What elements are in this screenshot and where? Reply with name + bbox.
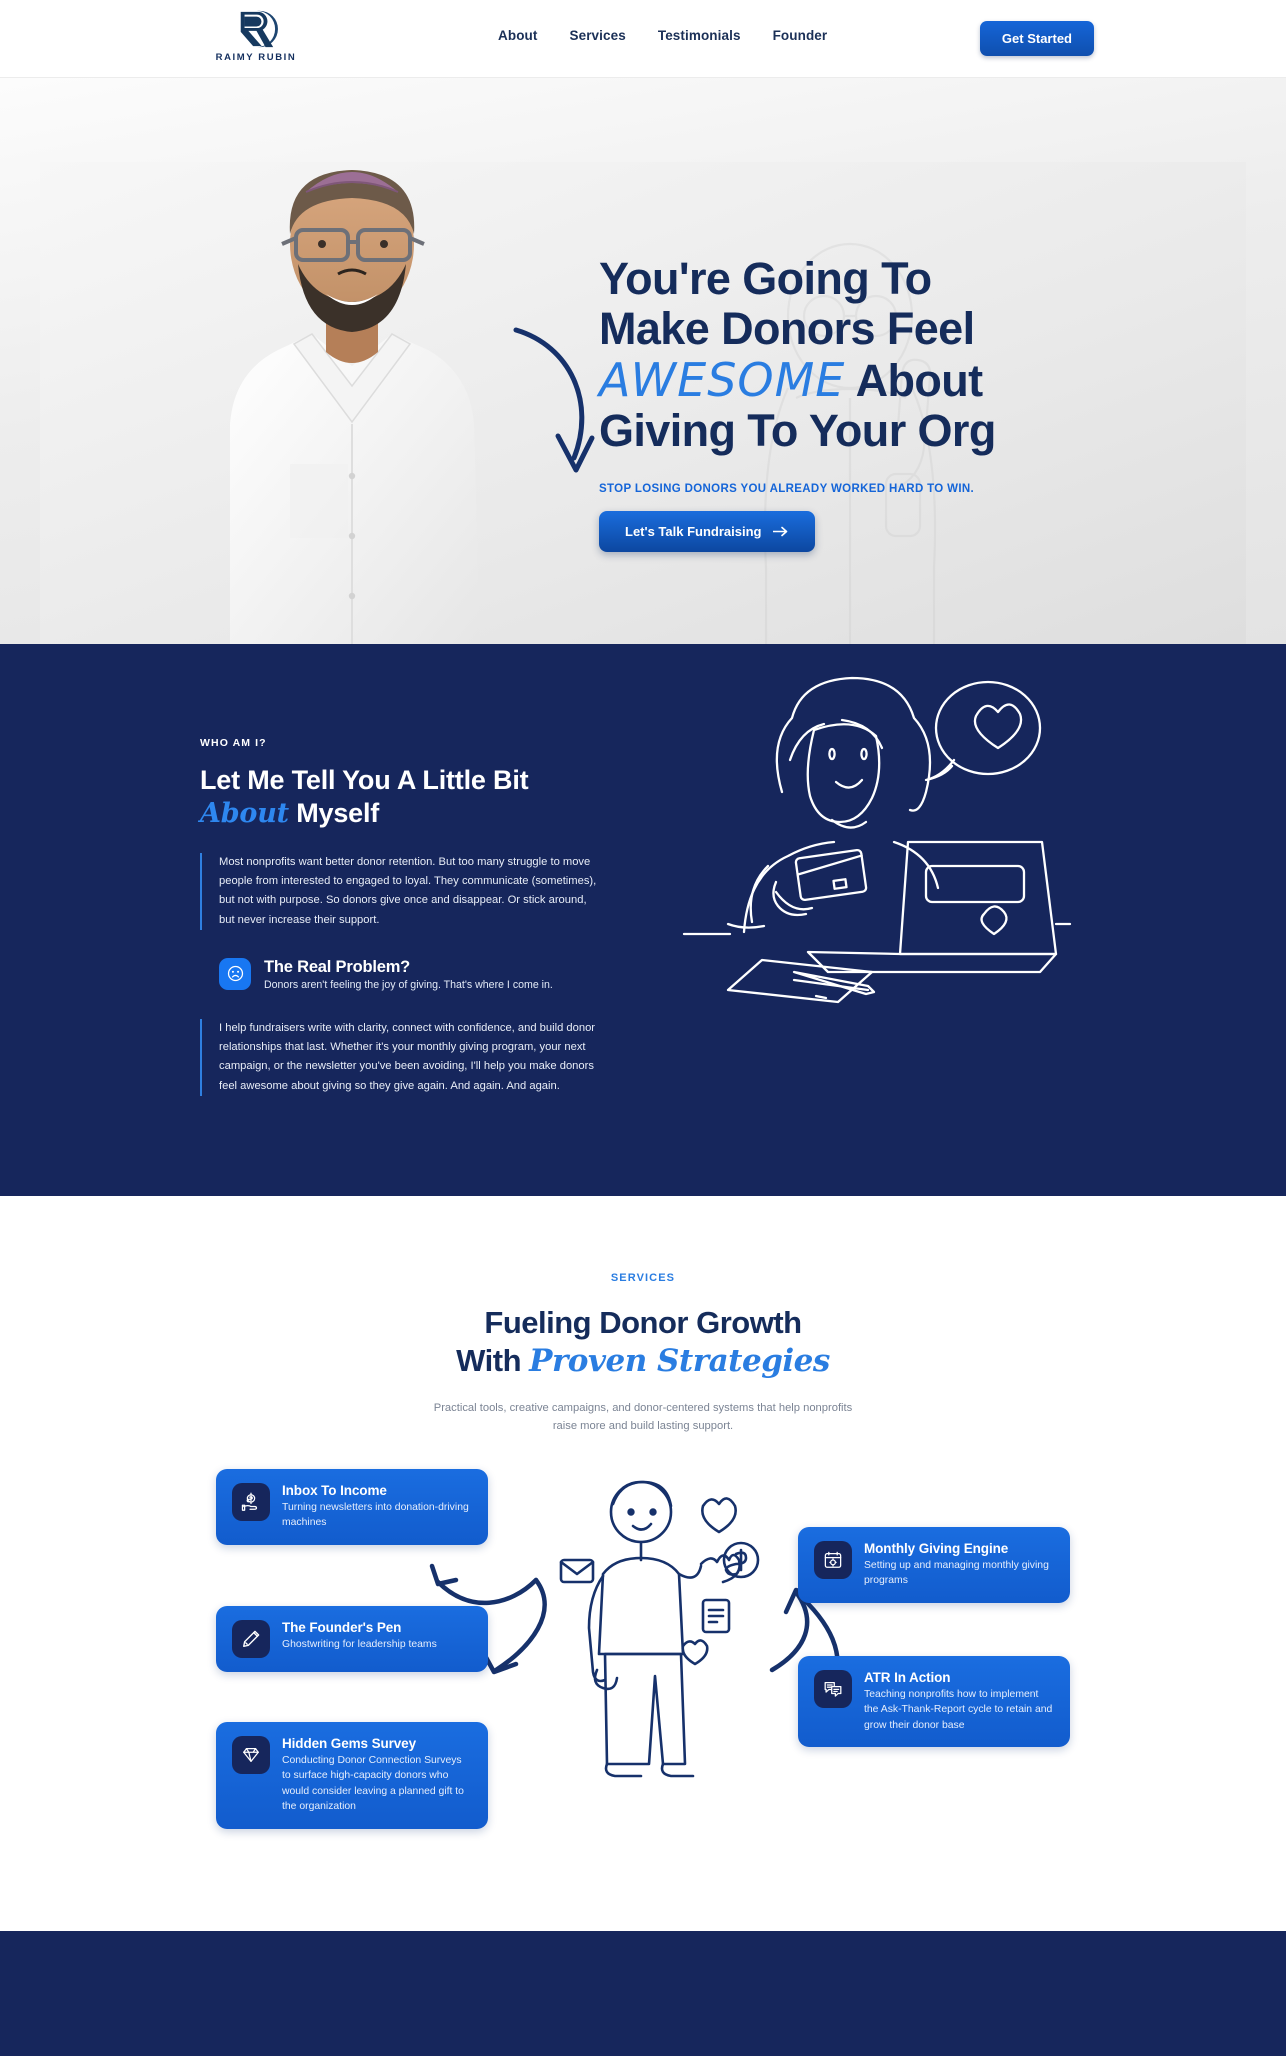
hero-subheading: STOP LOSING DONORS YOU ALREADY WORKED HA… — [599, 483, 1159, 495]
services-section: SERVICES Fueling Donor Growth With Prove… — [0, 1196, 1286, 1931]
services-center-illustration — [545, 1464, 765, 1794]
nav-item-founder[interactable]: Founder — [773, 28, 828, 43]
service-card-title: Hidden Gems Survey — [282, 1736, 472, 1751]
hero-copy-block: You're Going To Make Donors Feel AWESOME… — [599, 254, 1159, 552]
brand-logo[interactable]: RAIMY RUBIN — [196, 8, 316, 63]
chat-bubbles-icon — [814, 1670, 852, 1708]
service-card-title: Inbox To Income — [282, 1483, 472, 1498]
services-heading-line1: Fueling Donor Growth — [484, 1305, 801, 1340]
service-card-subtitle: Setting up and managing monthly giving p… — [864, 1558, 1054, 1589]
arrow-right-icon — [773, 526, 789, 537]
pen-icon — [232, 1620, 270, 1658]
service-card-text: Monthly Giving Engine Setting up and man… — [864, 1541, 1054, 1589]
hero-heading-line4: Giving To Your Org — [599, 405, 996, 456]
nav-item-about[interactable]: About — [498, 28, 537, 43]
hero-heading-line1: You're Going To — [599, 253, 932, 304]
services-cards-area: Inbox To Income Turning newsletters into… — [0, 1464, 1286, 1884]
service-card-title: The Founder's Pen — [282, 1620, 437, 1635]
nav-item-services[interactable]: Services — [569, 28, 625, 43]
hero-heading-line2: Make Donors Feel — [599, 303, 975, 354]
diamond-icon — [232, 1736, 270, 1774]
service-card-monthly-giving-engine[interactable]: Monthly Giving Engine Setting up and man… — [798, 1527, 1070, 1603]
real-problem-callout: The Real Problem? Donors aren't feeling … — [200, 958, 605, 991]
about-paragraph-2: I help fundraisers write with clarity, c… — [219, 1019, 605, 1096]
brand-name: RAIMY RUBIN — [216, 52, 297, 63]
about-copy-block: WHO AM I? Let Me Tell You A Little Bit A… — [200, 737, 605, 1096]
about-paragraph-1-block: Most nonprofits want better donor retent… — [200, 853, 605, 930]
top-navbar: RAIMY RUBIN About Services Testimonials … — [0, 0, 1286, 78]
footer-strip — [0, 1931, 1286, 2056]
service-card-text: The Founder's Pen Ghostwriting for leade… — [282, 1620, 437, 1658]
services-description: Practical tools, creative campaigns, and… — [433, 1399, 853, 1436]
service-card-subtitle: Teaching nonprofits how to implement the… — [864, 1687, 1054, 1734]
about-heading-script: About — [200, 798, 289, 829]
service-card-title: Monthly Giving Engine — [864, 1541, 1054, 1556]
real-problem-text: The Real Problem? Donors aren't feeling … — [264, 958, 553, 991]
about-heading-line1: Let Me Tell You A Little Bit — [200, 765, 528, 795]
service-card-hidden-gems-survey[interactable]: Hidden Gems Survey Conducting Donor Conn… — [216, 1722, 488, 1829]
about-heading: Let Me Tell You A Little Bit About Mysel… — [200, 764, 605, 831]
hero-section: You're Going To Make Donors Feel AWESOME… — [0, 78, 1286, 644]
hero-cta-label: Let's Talk Fundraising — [625, 524, 761, 539]
real-problem-subtitle: Donors aren't feeling the joy of giving.… — [264, 979, 553, 991]
hero-portrait-photo — [190, 124, 520, 644]
service-card-title: ATR In Action — [864, 1670, 1054, 1685]
lets-talk-fundraising-button[interactable]: Let's Talk Fundraising — [599, 511, 815, 552]
service-card-text: Inbox To Income Turning newsletters into… — [282, 1483, 472, 1531]
service-card-text: Hidden Gems Survey Conducting Donor Conn… — [282, 1736, 472, 1815]
services-heading-with: With — [456, 1343, 529, 1378]
service-card-inbox-to-income[interactable]: Inbox To Income Turning newsletters into… — [216, 1469, 488, 1545]
services-heading-script: Proven Strategies — [529, 1343, 830, 1379]
about-eyebrow: WHO AM I? — [200, 737, 605, 749]
about-heading-rest: Myself — [289, 798, 379, 828]
service-card-subtitle: Conducting Donor Connection Surveys to s… — [282, 1753, 472, 1815]
hand-holding-money-icon — [232, 1483, 270, 1521]
services-eyebrow: SERVICES — [0, 1196, 1286, 1284]
nav-item-testimonials[interactable]: Testimonials — [658, 28, 741, 43]
calendar-gear-icon — [814, 1541, 852, 1579]
real-problem-title: The Real Problem? — [264, 958, 553, 977]
about-paragraph-1: Most nonprofits want better donor retent… — [219, 853, 605, 930]
about-illustration — [672, 644, 1072, 1004]
service-card-the-founders-pen[interactable]: The Founder's Pen Ghostwriting for leade… — [216, 1606, 488, 1672]
service-card-atr-in-action[interactable]: ATR In Action Teaching nonprofits how to… — [798, 1656, 1070, 1748]
get-started-button[interactable]: Get Started — [980, 21, 1094, 56]
service-card-subtitle: Ghostwriting for leadership teams — [282, 1637, 437, 1653]
sad-face-icon — [219, 958, 251, 990]
hero-heading: You're Going To Make Donors Feel AWESOME… — [599, 254, 1159, 457]
service-card-text: ATR In Action Teaching nonprofits how to… — [864, 1670, 1054, 1734]
hero-heading-awesome: AWESOME — [599, 353, 845, 407]
services-heading: Fueling Donor Growth With Proven Strateg… — [0, 1304, 1286, 1381]
hero-heading-about: About — [845, 355, 982, 406]
about-section: WHO AM I? Let Me Tell You A Little Bit A… — [0, 644, 1286, 1196]
r-monogram-logo-icon — [233, 8, 279, 50]
about-paragraph-2-block: I help fundraisers write with clarity, c… — [200, 1019, 605, 1096]
primary-nav: About Services Testimonials Founder — [498, 28, 827, 43]
service-card-subtitle: Turning newsletters into donation-drivin… — [282, 1500, 472, 1531]
